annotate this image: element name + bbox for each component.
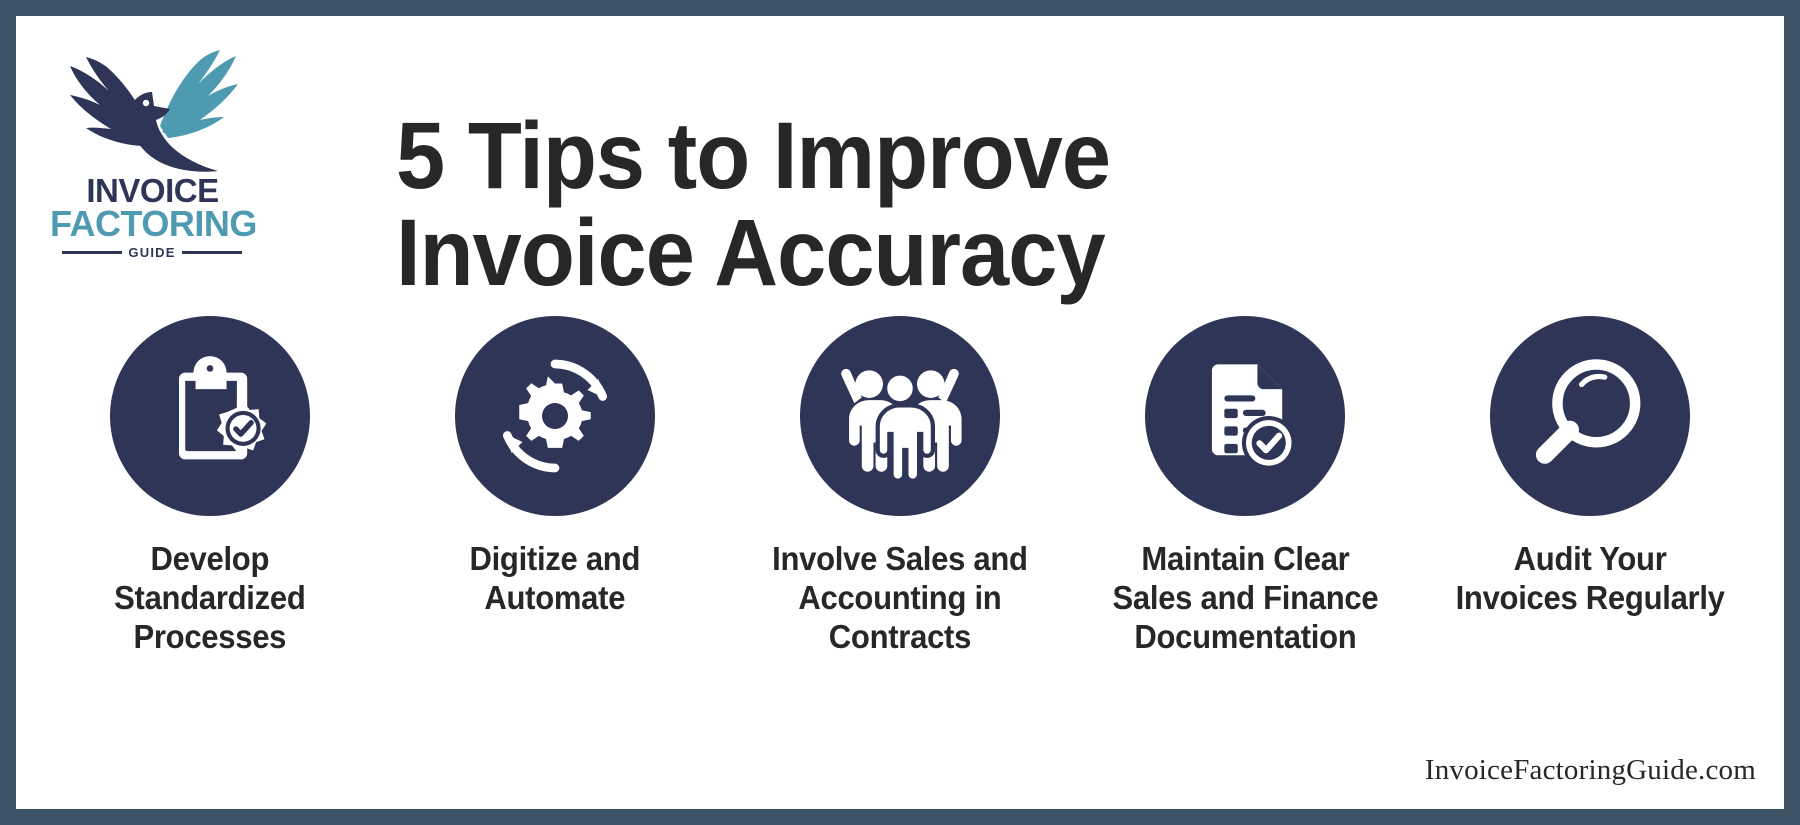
tip-label-1-line-3: Processes [114,618,305,657]
logo-text-guide: GUIDE [128,245,175,260]
tip-icon-circle-5 [1490,316,1690,516]
document-check-icon [1183,354,1307,478]
tip-label-5-line-2: Invoices Regularly [1455,579,1724,618]
tip-icon-circle-1 [110,316,310,516]
tip-label-5: Audit Your Invoices Regularly [1455,540,1724,618]
tip-label-2-line-2: Automate [470,579,641,618]
tip-label-1-line-2: Standardized [114,579,305,618]
tip-card-2[interactable]: Digitize and Automate [405,316,705,657]
title-line-2: Invoice Accuracy [396,205,1159,303]
gear-refresh-icon [490,351,620,481]
tip-label-1: Develop Standardized Processes [114,540,305,657]
infographic-canvas: INVOICE FACTORING GUIDE 5 Tips to Improv… [16,16,1784,809]
tip-label-1-line-1: Develop [114,540,305,579]
title-line-1: 5 Tips to Improve [396,108,1159,206]
brand-logo[interactable]: INVOICE FACTORING GUIDE [50,40,255,255]
tip-label-3: Involve Sales and Accounting in Contract… [772,540,1028,657]
tip-label-4-line-2: Sales and Finance [1112,579,1378,618]
footer-website-url[interactable]: InvoiceFactoringGuide.com [1425,754,1756,787]
tip-label-3-line-1: Involve Sales and [772,540,1028,579]
logo-rule-right [182,251,242,254]
tip-label-2: Digitize and Automate [470,540,641,618]
tip-label-4-line-1: Maintain Clear [1112,540,1378,579]
tip-icon-circle-3 [800,316,1000,516]
tip-card-3[interactable]: Involve Sales and Accounting in Contract… [750,316,1050,657]
logo-text-factoring: FACTORING [50,203,255,245]
tip-card-5[interactable]: Audit Your Invoices Regularly [1440,316,1740,657]
three-people-icon [831,352,969,480]
tip-label-5-line-1: Audit Your [1455,540,1724,579]
clipboard-check-badge-icon [148,354,272,478]
tip-card-1[interactable]: Develop Standardized Processes [60,316,360,657]
logo-rule-left [62,251,122,254]
tip-label-2-line-1: Digitize and [470,540,641,579]
tip-icon-circle-4 [1145,316,1345,516]
tip-label-4-line-3: Documentation [1112,618,1378,657]
tip-label-3-line-2: Accounting in [772,579,1028,618]
tip-label-3-line-3: Contracts [772,618,1028,657]
magnifying-glass-icon [1527,353,1653,479]
tip-card-4[interactable]: Maintain Clear Sales and Finance Documen… [1095,316,1395,657]
logo-guide-row: GUIDE [62,245,242,260]
tip-label-4: Maintain Clear Sales and Finance Documen… [1112,540,1378,657]
eagle-logo-icon [64,40,244,180]
page-title: 5 Tips to Improve Invoice Accuracy [396,108,1159,304]
tips-row: Develop Standardized Processes [16,316,1784,657]
infographic-frame: INVOICE FACTORING GUIDE 5 Tips to Improv… [0,0,1800,825]
tip-icon-circle-2 [455,316,655,516]
